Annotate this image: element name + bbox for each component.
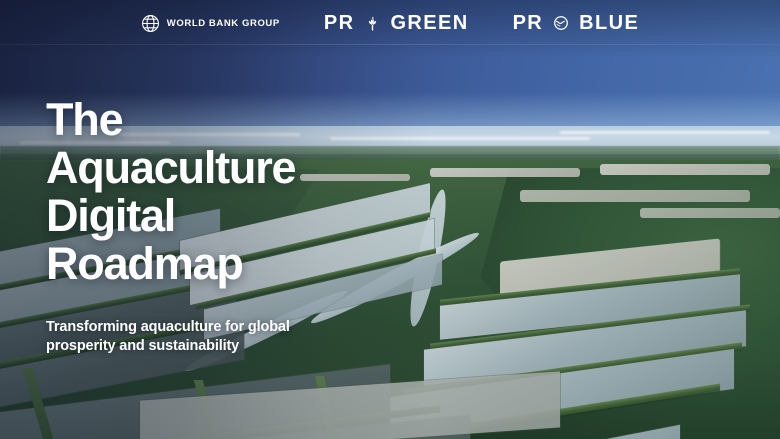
page-subtitle: Transforming aquaculture for global pros… (46, 318, 296, 356)
sprout-hand-icon (362, 13, 382, 33)
world-bank-group-logo: WORLD BANK GROUP (141, 14, 280, 33)
report-cover: WORLD BANK GROUP PR GREEN PR (0, 0, 780, 439)
sand-flat (520, 190, 750, 202)
title-line-2: Aquaculture (46, 144, 466, 192)
title-line-1: The (46, 96, 466, 144)
problue-label-suffix: BLUE (579, 12, 639, 35)
sand-flat (640, 208, 780, 218)
title-line-3: Digital (46, 192, 466, 240)
problue-label-prefix: PR (513, 12, 544, 35)
problue-logo: PR BLUE (513, 12, 640, 35)
wave-ring-icon (551, 13, 571, 33)
logo-bar: WORLD BANK GROUP PR GREEN PR (0, 0, 780, 46)
world-bank-group-label: WORLD BANK GROUP (167, 18, 280, 29)
progreen-logo: PR GREEN (324, 12, 469, 35)
progreen-label-prefix: PR (324, 12, 355, 35)
page-title: The Aquaculture Digital Roadmap (46, 96, 466, 288)
sand-flat (600, 164, 770, 175)
title-line-4: Roadmap (46, 240, 466, 288)
progreen-label-suffix: GREEN (390, 12, 468, 35)
horizon-strip (560, 131, 770, 134)
globe-icon (141, 14, 160, 33)
